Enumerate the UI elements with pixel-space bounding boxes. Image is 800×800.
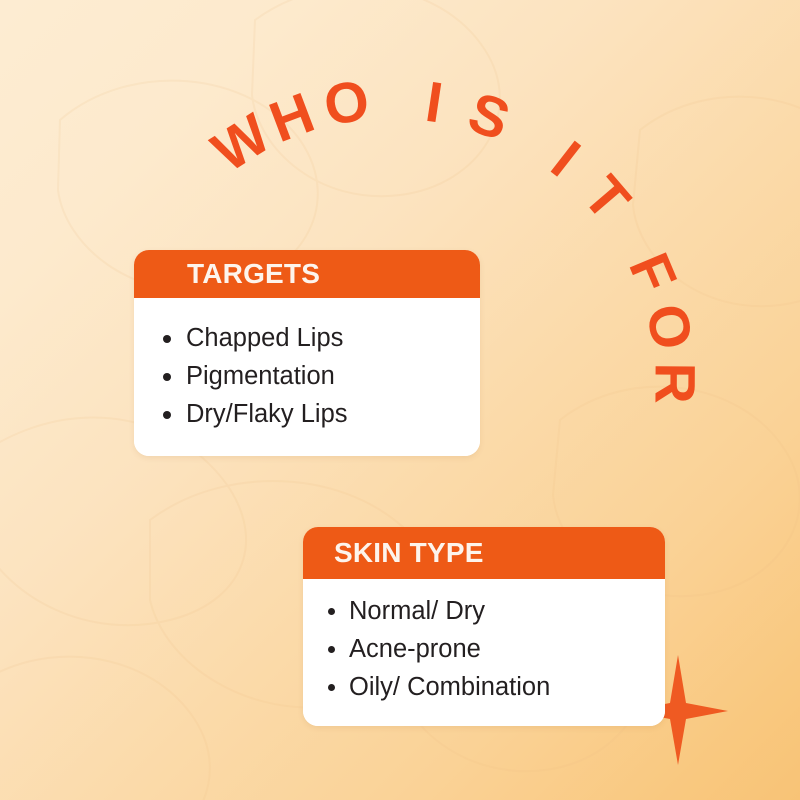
bullet-dot-icon bbox=[163, 373, 171, 381]
headline-letter: O bbox=[320, 72, 373, 135]
card-skin-type-title: SKIN TYPE bbox=[303, 527, 665, 579]
list-item: Oily/ Combination bbox=[303, 668, 665, 706]
headline-letter: W bbox=[204, 105, 280, 182]
list-item: Pigmentation bbox=[134, 357, 480, 395]
list-item: Chapped Lips bbox=[134, 319, 480, 357]
bullet-dot-icon bbox=[328, 646, 335, 653]
list-item-label: Acne-prone bbox=[349, 635, 481, 663]
list-item: Normal/ Dry bbox=[303, 592, 665, 630]
card-targets-title: TARGETS bbox=[134, 250, 480, 298]
headline-letter: I bbox=[542, 132, 590, 187]
list-item: Dry/Flaky Lips bbox=[134, 395, 480, 433]
list-item-label: Pigmentation bbox=[186, 362, 335, 390]
list-item-label: Oily/ Combination bbox=[349, 673, 550, 701]
list-item-label: Normal/ Dry bbox=[349, 597, 485, 625]
bullet-dot-icon bbox=[163, 335, 171, 343]
skin-type-list: Normal/ Dry Acne-prone Oily/ Combination bbox=[303, 592, 665, 706]
targets-list: Chapped Lips Pigmentation Dry/Flaky Lips bbox=[134, 319, 480, 433]
list-item-label: Dry/Flaky Lips bbox=[186, 400, 348, 428]
card-skin-type-body: Normal/ Dry Acne-prone Oily/ Combination bbox=[303, 579, 665, 726]
headline-letter: T bbox=[573, 167, 639, 231]
poster-canvas: WHOISITFOR TARGETS Chapped Lips Pigmenta… bbox=[0, 0, 800, 800]
headline-letter: F bbox=[619, 246, 685, 300]
headline-letter: R bbox=[645, 363, 702, 404]
bullet-dot-icon bbox=[328, 684, 335, 691]
bullet-dot-icon bbox=[328, 608, 335, 615]
card-targets: TARGETS Chapped Lips Pigmentation Dry/Fl… bbox=[134, 250, 480, 456]
headline-letter: S bbox=[461, 84, 516, 151]
headline-letter: H bbox=[263, 84, 322, 152]
list-item: Acne-prone bbox=[303, 630, 665, 668]
card-targets-body: Chapped Lips Pigmentation Dry/Flaky Lips bbox=[134, 298, 480, 456]
headline-letter: O bbox=[636, 300, 701, 355]
list-item-label: Chapped Lips bbox=[186, 324, 343, 352]
headline-letter: I bbox=[422, 74, 446, 133]
bullet-dot-icon bbox=[163, 411, 171, 419]
card-skin-type: SKIN TYPE Normal/ Dry Acne-prone Oily/ C… bbox=[303, 527, 665, 726]
